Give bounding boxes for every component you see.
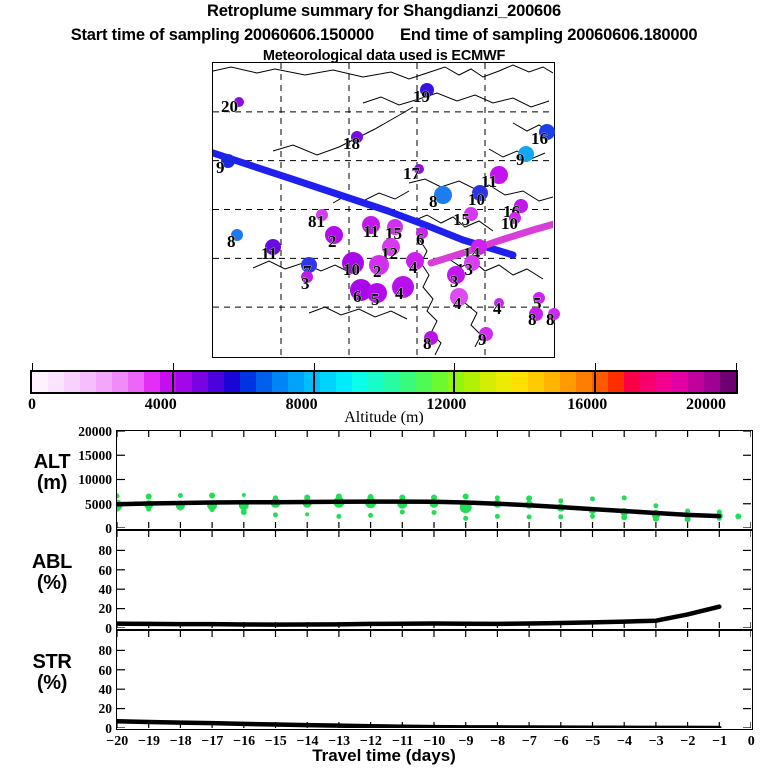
colorbar-swatch bbox=[32, 372, 48, 392]
map-day-label: 8 bbox=[423, 335, 432, 352]
colorbar-swatch bbox=[224, 372, 240, 392]
start-time-label: Start time of sampling 20060606.150000 bbox=[71, 26, 374, 44]
map-day-label: 3 bbox=[301, 275, 310, 292]
colorbar-swatch bbox=[416, 372, 432, 392]
colorbar-tick bbox=[173, 363, 174, 370]
colorbar-tick bbox=[314, 363, 315, 370]
colorbar-separator bbox=[453, 370, 455, 394]
map-day-label: 15 bbox=[453, 211, 470, 228]
map-day-label: 10 bbox=[468, 191, 485, 208]
colorbar-swatch bbox=[496, 372, 512, 392]
map-day-label: 5 bbox=[371, 291, 380, 308]
str-plot bbox=[117, 631, 751, 728]
map-day-label: 4 bbox=[395, 285, 404, 302]
colorbar-swatch bbox=[272, 372, 288, 392]
colorbar-swatch bbox=[288, 372, 304, 392]
map-day-label: 4 bbox=[453, 295, 462, 312]
colorbar-swatch bbox=[448, 372, 464, 392]
map-day-label: 9 bbox=[216, 159, 225, 176]
colorbar-swatch bbox=[624, 372, 640, 392]
colorbar-title: Altitude (m) bbox=[0, 409, 768, 427]
colorbar-separator bbox=[594, 370, 596, 394]
colorbar-separator bbox=[172, 370, 174, 394]
y-tick-label: 0 bbox=[40, 722, 112, 736]
map-day-label: 81 bbox=[308, 213, 325, 230]
colorbar-tick bbox=[32, 363, 33, 370]
retroplume-map[interactable]: 2019181716991188111015141381111561221024… bbox=[212, 62, 555, 358]
map-day-label: 9 bbox=[478, 331, 487, 348]
colorbar-swatch bbox=[576, 372, 592, 392]
map-canvas bbox=[213, 63, 553, 356]
colorbar-tick bbox=[736, 363, 737, 370]
colorbar-swatch bbox=[400, 372, 416, 392]
y-tick-label: 20 bbox=[40, 602, 112, 616]
y-tick-label: 60 bbox=[40, 564, 112, 578]
map-day-label: 20 bbox=[221, 98, 238, 115]
map-day-label: 8 bbox=[429, 193, 438, 210]
colorbar-swatch bbox=[704, 372, 720, 392]
colorbar-swatch bbox=[336, 372, 352, 392]
map-day-label: 2 bbox=[373, 263, 382, 280]
colorbar-swatch bbox=[240, 372, 256, 392]
y-tick-label: 20 bbox=[40, 702, 112, 716]
map-day-label: 11 bbox=[261, 245, 277, 262]
map-day-label: 6 bbox=[416, 231, 425, 248]
y-tick-label: 60 bbox=[40, 664, 112, 678]
map-day-label: 4 bbox=[409, 259, 418, 276]
x-axis-title: Travel time (days) bbox=[0, 746, 768, 766]
map-day-label: 11 bbox=[363, 223, 379, 240]
y-tick-label: 0 bbox=[40, 622, 112, 636]
y-tick-label: 80 bbox=[40, 544, 112, 558]
colorbar-swatch bbox=[320, 372, 336, 392]
colorbar-swatch bbox=[176, 372, 192, 392]
alt-plot bbox=[117, 431, 751, 528]
sampling-time-line: Start time of sampling 20060606.150000En… bbox=[0, 26, 768, 45]
colorbar-swatch bbox=[80, 372, 96, 392]
colorbar-swatch bbox=[720, 372, 736, 392]
map-day-label: 4 bbox=[493, 300, 502, 317]
str-panel[interactable] bbox=[116, 630, 753, 730]
colorbar-swatch bbox=[512, 372, 528, 392]
colorbar-swatch bbox=[688, 372, 704, 392]
colorbar-swatch bbox=[608, 372, 624, 392]
colorbar-swatch bbox=[352, 372, 368, 392]
map-day-label: 8 bbox=[546, 311, 555, 328]
colorbar-swatch bbox=[560, 372, 576, 392]
colorbar-swatch bbox=[464, 372, 480, 392]
y-tick-label: 15000 bbox=[40, 449, 112, 463]
map-day-label: 9 bbox=[516, 151, 525, 168]
map-day-label: 10 bbox=[501, 215, 518, 232]
colorbar-swatch bbox=[144, 372, 160, 392]
map-day-label: 18 bbox=[343, 135, 360, 152]
colorbar-swatch bbox=[432, 372, 448, 392]
y-tick-label: 40 bbox=[40, 683, 112, 697]
colorbar-separator bbox=[313, 370, 315, 394]
colorbar-swatch bbox=[96, 372, 112, 392]
y-tick-label: 80 bbox=[40, 644, 112, 658]
y-tick-label: 5000 bbox=[40, 498, 112, 512]
colorbar-swatch bbox=[672, 372, 688, 392]
abl-panel[interactable] bbox=[116, 530, 753, 630]
end-time-label: End time of sampling 20060606.180000 bbox=[400, 26, 697, 44]
colorbar-tick bbox=[454, 363, 455, 370]
map-day-label: 8 bbox=[528, 311, 537, 328]
map-day-label: 17 bbox=[403, 165, 420, 182]
abl-plot bbox=[117, 531, 751, 628]
colorbar-swatch bbox=[528, 372, 544, 392]
colorbar-swatch bbox=[656, 372, 672, 392]
colorbar-swatch bbox=[368, 372, 384, 392]
y-tick-label: 20000 bbox=[40, 425, 112, 439]
colorbar-swatch bbox=[128, 372, 144, 392]
colorbar-tick bbox=[595, 363, 596, 370]
map-day-label: 10 bbox=[343, 261, 360, 278]
colorbar-swatch bbox=[48, 372, 64, 392]
map-day-label: 2 bbox=[328, 233, 337, 250]
y-tick-label: 0 bbox=[40, 522, 112, 536]
map-day-label: 6 bbox=[353, 288, 362, 305]
colorbar-swatch bbox=[480, 372, 496, 392]
altitude-colorbar bbox=[30, 370, 738, 394]
map-day-label: 19 bbox=[413, 88, 430, 105]
colorbar-swatch bbox=[112, 372, 128, 392]
colorbar-swatch bbox=[384, 372, 400, 392]
y-tick-label: 40 bbox=[40, 583, 112, 597]
map-day-label: 16 bbox=[531, 130, 548, 147]
colorbar-swatch bbox=[256, 372, 272, 392]
y-tick-label: 10000 bbox=[40, 473, 112, 487]
map-day-label: 8 bbox=[227, 233, 236, 250]
alt-panel[interactable] bbox=[116, 430, 753, 530]
colorbar-swatch bbox=[208, 372, 224, 392]
colorbar-swatch bbox=[192, 372, 208, 392]
colorbar-swatch bbox=[544, 372, 560, 392]
colorbar-swatch bbox=[640, 372, 656, 392]
page-title: Retroplume summary for Shangdianzi_20060… bbox=[0, 2, 768, 21]
colorbar-swatch bbox=[64, 372, 80, 392]
